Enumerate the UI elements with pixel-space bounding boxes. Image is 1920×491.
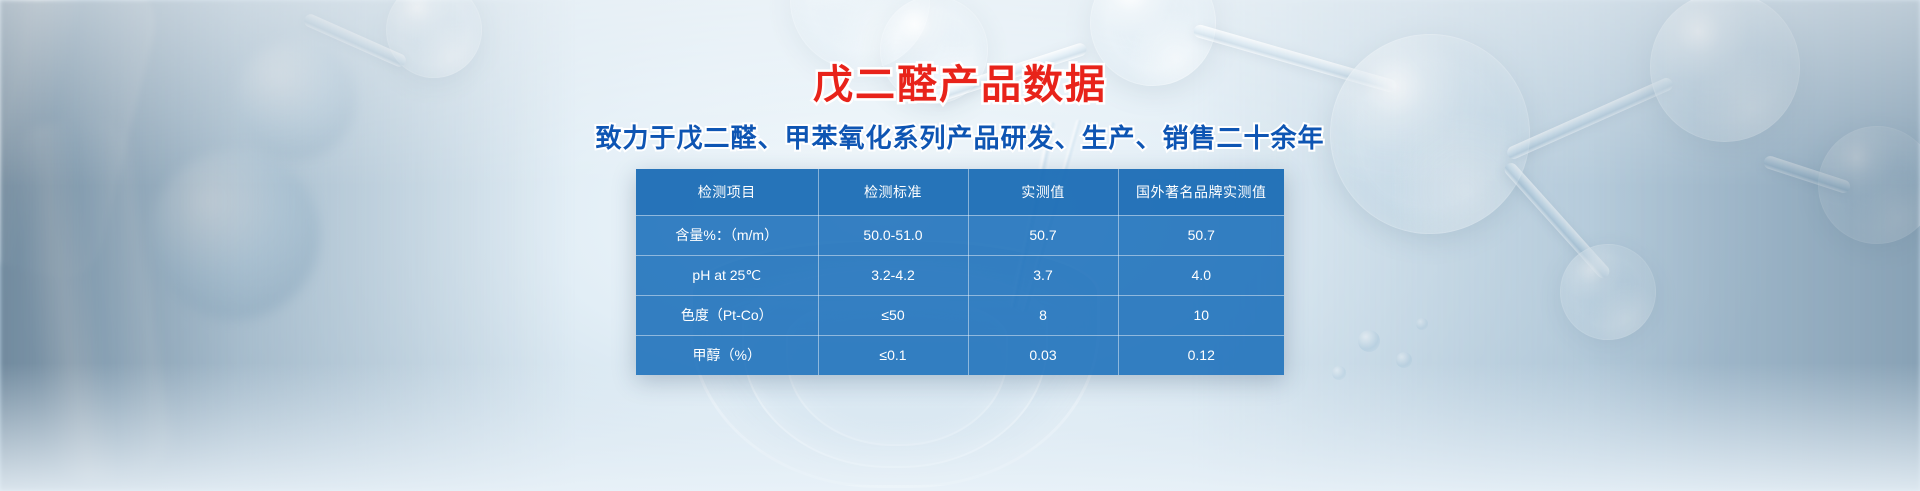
cell-standard: ≤0.1 [818, 335, 968, 375]
column-header-standard: 检测标准 [818, 169, 968, 215]
cell-foreign: 0.12 [1118, 335, 1284, 375]
column-header-item: 检测项目 [636, 169, 818, 215]
table-row: 甲醇（%） ≤0.1 0.03 0.12 [636, 335, 1284, 375]
cell-item: 色度（Pt-Co） [636, 295, 818, 335]
cell-item: pH at 25℃ [636, 255, 818, 295]
table-header-row: 检测项目 检测标准 实测值 国外著名品牌实测值 [636, 169, 1284, 215]
page-title: 戊二醛产品数据 [813, 52, 1107, 110]
cell-measured: 0.03 [968, 335, 1118, 375]
page-subtitle: 致力于戊二醛、甲苯氧化系列产品研发、生产、销售二十余年 [595, 118, 1324, 155]
cell-item: 含量%：（m/m） [636, 215, 818, 255]
product-data-table: 检测项目 检测标准 实测值 国外著名品牌实测值 含量%：（m/m） 50.0-5… [636, 169, 1284, 375]
cell-measured: 3.7 [968, 255, 1118, 295]
column-header-foreign: 国外著名品牌实测值 [1118, 169, 1284, 215]
cell-standard: ≤50 [818, 295, 968, 335]
product-data-table-wrapper: 检测项目 检测标准 实测值 国外著名品牌实测值 含量%：（m/m） 50.0-5… [636, 169, 1284, 375]
cell-foreign: 4.0 [1118, 255, 1284, 295]
cell-standard: 50.0-51.0 [818, 215, 968, 255]
banner-content: 戊二醛产品数据 致力于戊二醛、甲苯氧化系列产品研发、生产、销售二十余年 检测项目… [0, 0, 1920, 491]
cell-measured: 8 [968, 295, 1118, 335]
cell-item: 甲醇（%） [636, 335, 818, 375]
cell-standard: 3.2-4.2 [818, 255, 968, 295]
table-row: 含量%：（m/m） 50.0-51.0 50.7 50.7 [636, 215, 1284, 255]
cell-measured: 50.7 [968, 215, 1118, 255]
column-header-measured: 实测值 [968, 169, 1118, 215]
table-row: pH at 25℃ 3.2-4.2 3.7 4.0 [636, 255, 1284, 295]
cell-foreign: 10 [1118, 295, 1284, 335]
table-row: 色度（Pt-Co） ≤50 8 10 [636, 295, 1284, 335]
cell-foreign: 50.7 [1118, 215, 1284, 255]
